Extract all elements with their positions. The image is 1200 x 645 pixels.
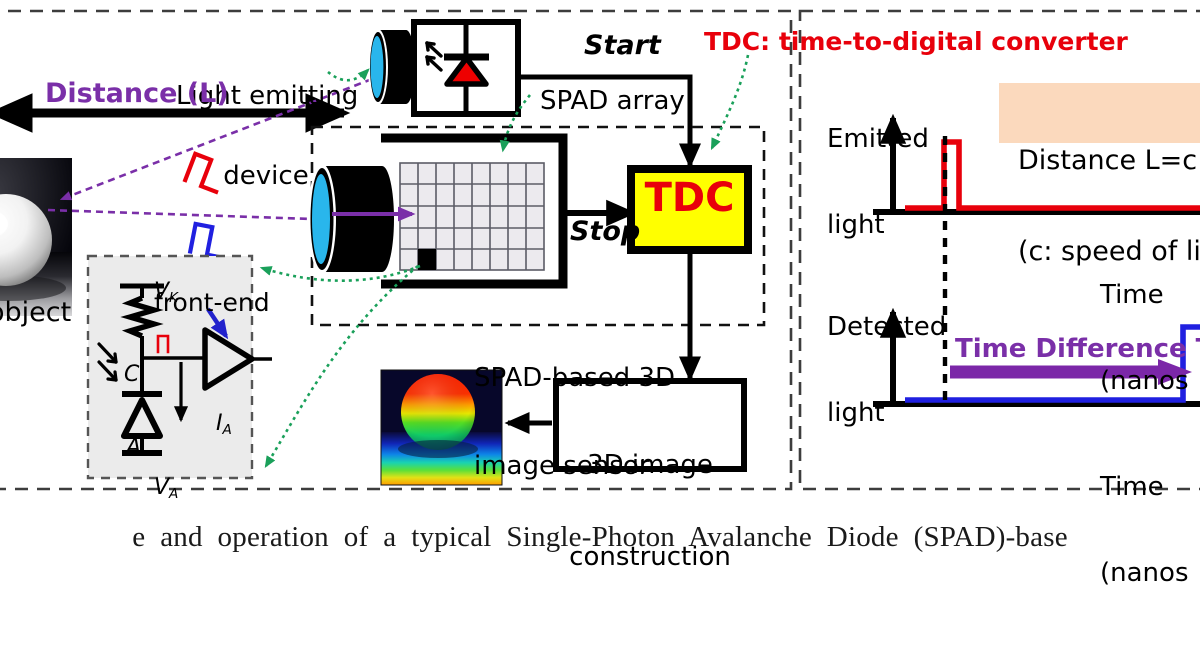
axis-label-detected-light: Detected light — [827, 256, 946, 485]
object-image — [0, 158, 72, 316]
emitter-lens-assembly — [368, 29, 415, 105]
label-spad-array: SPAD array — [540, 88, 685, 115]
formula-text: Distance L=c (c: speed of lig — [1018, 86, 1200, 328]
led-source-box — [414, 22, 518, 114]
label-stop: Stop — [570, 218, 640, 246]
figure-caption: e and operation of a typical Single-Phot… — [0, 521, 1200, 554]
tdc-block-label: TDC — [631, 178, 748, 219]
label-start: Start — [584, 32, 661, 60]
emitter-lens-glass — [371, 36, 384, 98]
label-avalanche-current: IA — [188, 391, 232, 461]
label-object: object — [0, 299, 71, 327]
label-v-cathode: VK — [126, 259, 178, 329]
label-tdc-legend: TDC: time-to-digital converter — [704, 29, 1128, 55]
label-time-difference: Time Difference T — [955, 336, 1200, 363]
label-3d-image-construction: 3D image construction — [556, 389, 744, 634]
leader-tdc-legend — [712, 55, 748, 148]
figure-root: Light emitting device Distance (L) objec… — [0, 0, 1200, 630]
spad-active-pixel — [418, 249, 436, 270]
label-distance: Distance (L) — [45, 80, 229, 108]
label-node-cathode: C — [124, 364, 139, 386]
label-v-anode: VA — [126, 455, 178, 525]
label-light-emitting-device: Light emitting device — [176, 30, 356, 242]
